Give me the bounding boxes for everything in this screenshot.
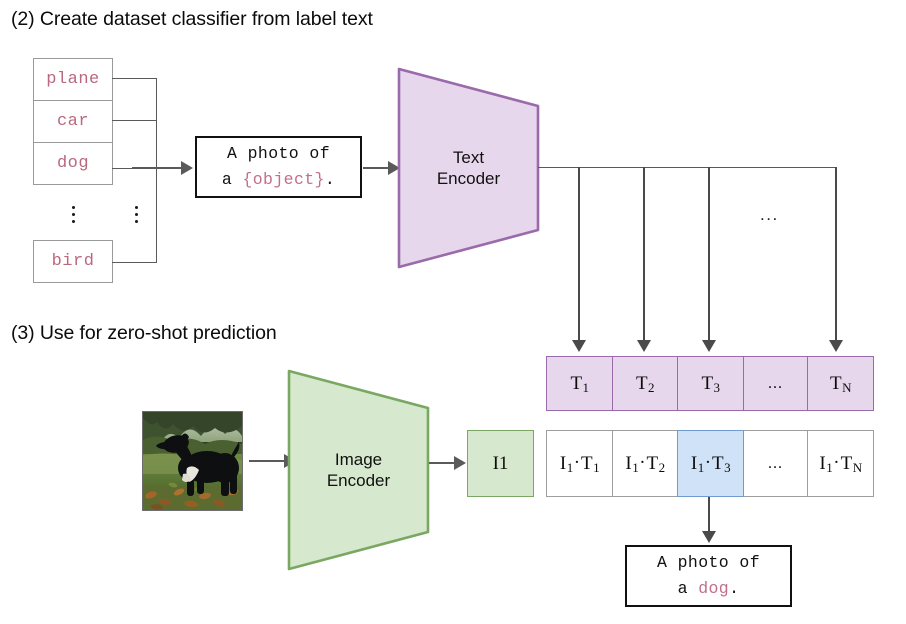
- arrow-labels-to-prompt-head: [181, 161, 193, 175]
- prediction-line-1: A photo of: [657, 550, 760, 576]
- similarity-cell-i1t3-selected[interactable]: I1·T3: [677, 430, 744, 497]
- cell-subscript: 1: [499, 453, 509, 475]
- prompt-line-2: a {object}.: [222, 167, 335, 193]
- arrow-to-t3-head: [702, 340, 716, 352]
- cell-label-2: T: [841, 453, 853, 475]
- diagram-canvas: (2) Create dataset classifier from label…: [0, 0, 906, 624]
- cell-operator: ·: [704, 452, 712, 474]
- arrow-labels-to-prompt-shaft: [132, 167, 184, 169]
- connector-bird: [112, 262, 157, 263]
- input-photo[interactable]: [142, 411, 243, 511]
- connector-plane: [112, 78, 157, 79]
- label-text: dog: [57, 154, 89, 173]
- cell-subscript-2: 2: [659, 460, 666, 476]
- similarity-cell-i1t2[interactable]: I1·T2: [612, 430, 679, 497]
- label-box-plane[interactable]: plane: [33, 58, 113, 101]
- arrow-image-encoder-to-embedding-shaft: [429, 462, 457, 464]
- text-embeddings-row: T1 T2 T3 ... TN: [546, 356, 874, 411]
- label-box-car[interactable]: car: [33, 100, 113, 143]
- prediction-line-2-suffix: .: [729, 579, 739, 598]
- label-text: car: [57, 112, 89, 131]
- similarity-cell-i1tn[interactable]: I1·TN: [807, 430, 874, 497]
- cell-operator: ·: [832, 452, 840, 474]
- prompt-object-token: {object}: [242, 170, 324, 189]
- text-embedding-cell-t1[interactable]: T1: [546, 356, 613, 411]
- section-3-title: (3) Use for zero-shot prediction: [11, 322, 277, 345]
- bus-ellipsis-icon: [125, 206, 147, 223]
- text-embedding-cell-tn[interactable]: TN: [807, 356, 874, 411]
- arrow-image-encoder-to-embedding-head: [454, 456, 466, 470]
- arrow-prompt-to-text-encoder-shaft: [363, 167, 391, 169]
- cell-subscript-2: 3: [724, 460, 731, 476]
- cell-operator: ·: [573, 452, 581, 474]
- arrow-to-t1-shaft: [578, 167, 580, 342]
- cell-label-2: T: [712, 453, 724, 475]
- arrow-to-tn-head: [829, 340, 843, 352]
- cell-subscript: 2: [648, 380, 655, 396]
- section-2-title: (2) Create dataset classifier from label…: [11, 8, 373, 31]
- arrow-to-t2-head: [637, 340, 651, 352]
- similarity-cell-ellipsis: ...: [743, 430, 809, 497]
- cell-label: T: [701, 373, 713, 395]
- cell-label-2: T: [647, 453, 659, 475]
- cell-subscript-2: N: [853, 460, 862, 476]
- label-box-bird[interactable]: bird: [33, 240, 113, 283]
- label-text: plane: [46, 70, 100, 89]
- connector-car: [112, 120, 157, 121]
- cell-label: I: [819, 453, 825, 475]
- label-text: bird: [52, 252, 95, 271]
- cell-label: I: [691, 453, 697, 475]
- text-embedding-cell-ellipsis: ...: [743, 356, 809, 411]
- similarity-cell-i1t1[interactable]: I1·T1: [546, 430, 613, 497]
- label-list-ellipsis-icon: [62, 206, 84, 223]
- prompt-template-box[interactable]: A photo of a {object}.: [195, 136, 362, 198]
- arrow-to-t3-shaft: [708, 167, 710, 342]
- cell-operator: ·: [638, 452, 646, 474]
- connector-bus: [156, 78, 157, 263]
- cell-label: T: [830, 373, 842, 395]
- arrow-photo-to-image-encoder-shaft: [249, 460, 287, 462]
- prediction-line-2: a dog.: [678, 576, 740, 602]
- prediction-line-2-prefix: a: [678, 579, 699, 598]
- cell-label-2: T: [581, 453, 593, 475]
- cell-subscript: 3: [714, 380, 721, 396]
- prompt-line-2-suffix: .: [325, 170, 335, 189]
- label-box-dog[interactable]: dog: [33, 142, 113, 185]
- cell-label: T: [570, 373, 582, 395]
- arrow-to-t2-shaft: [643, 167, 645, 342]
- similarity-row: I1·T1 I1·T2 I1·T3 ... I1·TN: [546, 430, 874, 497]
- text-encoder-output-bus: [538, 167, 836, 168]
- arrow-selected-to-prediction-shaft: [708, 497, 710, 533]
- text-embeddings-ellipsis-above: ...: [760, 205, 779, 225]
- cell-label: I: [625, 453, 631, 475]
- arrow-selected-to-prediction-head: [702, 531, 716, 543]
- cell-subscript-2: 1: [593, 460, 600, 476]
- prompt-line-2-prefix: a: [222, 170, 243, 189]
- prompt-line-1: A photo of: [227, 141, 330, 167]
- prediction-class-token: dog: [698, 579, 729, 598]
- cell-ellipsis: ...: [768, 455, 783, 473]
- cell-subscript: N: [842, 380, 851, 396]
- cell-label: I: [560, 453, 566, 475]
- text-encoder-shape: [396, 66, 541, 270]
- arrow-to-t1-head: [572, 340, 586, 352]
- image-encoder[interactable]: Image Encoder: [286, 368, 431, 572]
- cell-label: T: [636, 373, 648, 395]
- cell-subscript: 1: [583, 380, 590, 396]
- image-encoder-shape: [286, 368, 431, 572]
- cell-ellipsis: ...: [768, 375, 783, 393]
- dog-photo-illustration: [143, 412, 242, 510]
- prediction-box[interactable]: A photo of a dog.: [625, 545, 792, 607]
- text-encoder[interactable]: Text Encoder: [396, 66, 541, 270]
- arrow-to-tn-shaft: [835, 167, 837, 342]
- text-embedding-cell-t3[interactable]: T3: [677, 356, 744, 411]
- image-embedding-cell-i1[interactable]: I1: [467, 430, 534, 497]
- text-embedding-cell-t2[interactable]: T2: [612, 356, 679, 411]
